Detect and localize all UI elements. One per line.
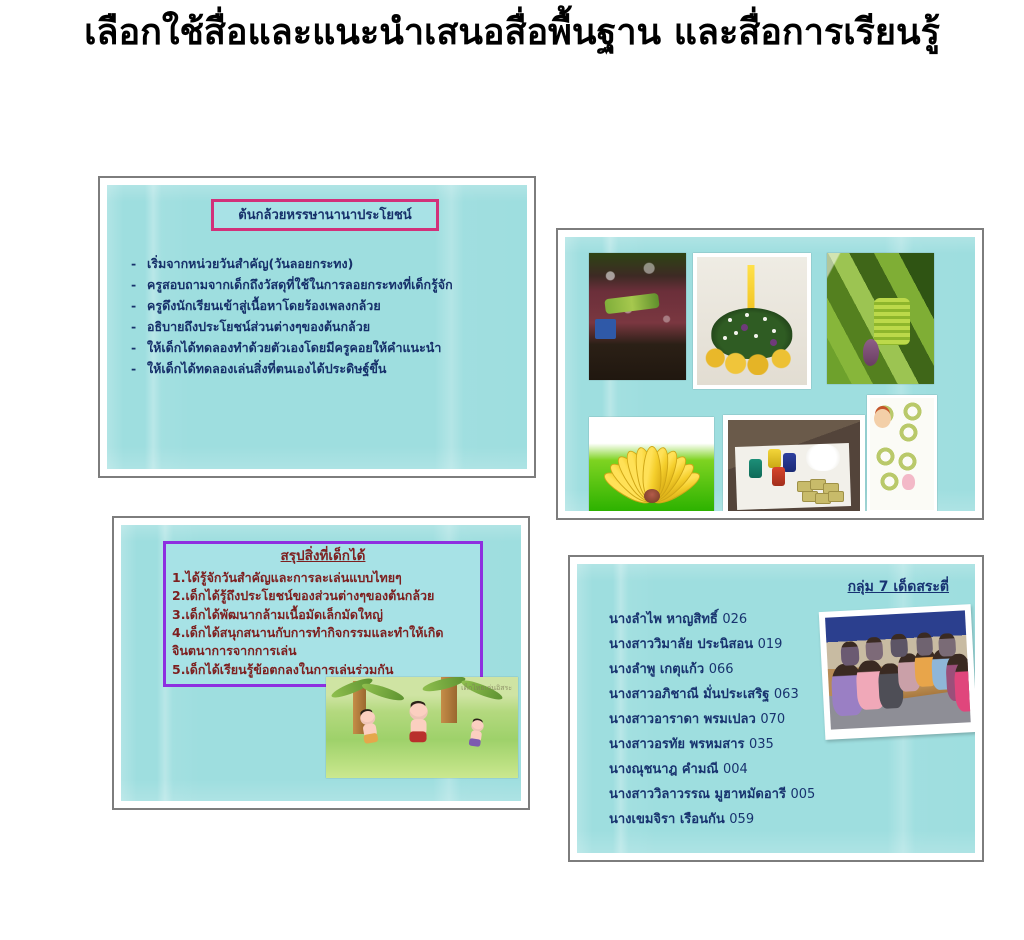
photo-child-artwork (867, 395, 937, 511)
person-figure (938, 633, 956, 656)
list-item: นางสาวอาราดา พรมเปลว 070 (609, 708, 815, 733)
member-id: 004 (723, 762, 748, 777)
member-id: 026 (722, 612, 747, 627)
member-name: นางสาวอาราดา พรมเปลว (609, 712, 756, 727)
lesson-bullet-list: - เริ่มจากหน่วยวันสำคัญ(วันลอยกระทง) - ค… (131, 253, 515, 379)
lesson-bullet-text: ให้เด็กได้ทดลองเล่นสิ่งที่ตนเองได้ประดิษ… (147, 358, 386, 379)
summary-heading: สรุปสิ่งที่เด็กได้ (172, 547, 474, 567)
member-name: นางสาววิมาลัย ประนิสอน (609, 637, 753, 652)
slide-lesson-plan[interactable]: ต้นกล้วยหรรษานานาประโยชน์ - เริ่มจากหน่ว… (98, 176, 536, 478)
member-id: 005 (791, 787, 816, 802)
summary-line: 3.เด็กได้พัฒนากล้ามเนื้อมัดเล็กมัดใหญ่ (172, 606, 474, 624)
slide-summary-canvas: สรุปสิ่งที่เด็กได้ 1.ได้รู้จักวันสำคัญแล… (121, 525, 521, 801)
person-figure (953, 659, 970, 712)
list-item: - เริ่มจากหน่วยวันสำคัญ(วันลอยกระทง) (131, 253, 515, 274)
summary-line: จินตนาการจากการเล่น (172, 642, 474, 660)
photo-dye-and-stalks (723, 415, 865, 511)
page-title: เลือกใช้สื่อและแนะนำเสนอสื่อพื้นฐาน และส… (0, 10, 1024, 55)
member-name: นางณุชนาฎ คำมณี (609, 762, 718, 777)
member-name: นางสาวอรทัย พรหมสาร (609, 737, 744, 752)
lesson-bullet-text: ให้เด็กได้ทดลองทำด้วยตัวเองโดยมีครูคอยให… (147, 337, 441, 358)
list-item: นางเขมจิรา เรือนกัน 059 (609, 808, 815, 833)
summary-line: 4.เด็กได้สนุกสนานกับการทำกิจกรรมและทำให้… (172, 624, 474, 642)
slide-group-members[interactable]: กลุ่ม 7 เด็ดสระตี่ นางลำไพ หาญสิทธิ์ 026… (568, 555, 984, 862)
member-id: 063 (774, 687, 799, 702)
list-item: - อธิบายถึงประโยชน์ส่วนต่างๆของต้นกล้วย (131, 316, 515, 337)
list-item: นางสาววิมาลัย ประนิสอน 019 (609, 633, 815, 658)
group-photo (819, 604, 975, 740)
bullet-dash-icon: - (131, 295, 140, 316)
bullet-dash-icon: - (131, 337, 140, 358)
photo-banana-plantation (827, 253, 934, 384)
list-item: - ครูดึงนักเรียนเข้าสู่เนื้อหาโดยร้องเพล… (131, 295, 515, 316)
list-item: - ให้เด็กได้ทดลองเล่นสิ่งที่ตนเองได้ประด… (131, 358, 515, 379)
bullet-dash-icon: - (131, 253, 140, 274)
member-id: 070 (760, 712, 785, 727)
photo-outdoor-table (589, 253, 686, 380)
slide-group-members-canvas: กลุ่ม 7 เด็ดสระตี่ นางลำไพ หาญสิทธิ์ 026… (577, 564, 975, 853)
list-item: นางสาววิลาวรรณ มูฮาหมัดอารี 005 (609, 783, 815, 808)
summary-line: 2.เด็กได้รู้ถึงประโยชน์ของส่วนต่างๆของต้… (172, 587, 474, 605)
lesson-bullet-text: อธิบายถึงประโยชน์ส่วนต่างๆของต้นกล้วย (147, 316, 370, 337)
summary-line: 1.ได้รู้จักวันสำคัญและการละเล่นแบบไทยๆ (172, 569, 474, 587)
cartoon-children-playing-image: เด็กไทยเล่นอิสระ (326, 677, 518, 778)
member-name: นางเขมจิรา เรือนกัน (609, 812, 725, 827)
lesson-title-box: ต้นกล้วยหรรษานานาประโยชน์ (211, 199, 439, 231)
list-item: - ครูสอบถามจากเด็กถึงวัสดุที่ใช้ในการลอย… (131, 274, 515, 295)
photo-banana-bunch (589, 417, 714, 511)
lesson-bullet-text: ครูดึงนักเรียนเข้าสู่เนื้อหาโดยร้องเพลงก… (147, 295, 381, 316)
banana-stem (644, 489, 660, 503)
list-item: นางณุชนาฎ คำมณี 004 (609, 758, 815, 783)
list-item: นางสาวอรทัย พรหมสาร 035 (609, 733, 815, 758)
member-id: 035 (749, 737, 774, 752)
member-name: นางสาววิลาวรรณ มูฮาหมัดอารี (609, 787, 786, 802)
group-member-list: นางลำไพ หาญสิทธิ์ 026 นางสาววิมาลัย ประน… (609, 608, 815, 833)
list-item: นางลำไพ หาญสิทธิ์ 026 (609, 608, 815, 633)
lesson-bullet-text: เริ่มจากหน่วยวันสำคัญ(วันลอยกระทง) (147, 253, 353, 274)
person-figure (916, 632, 934, 655)
slide-lesson-plan-canvas: ต้นกล้วยหรรษานานาประโยชน์ - เริ่มจากหน่ว… (107, 185, 527, 469)
summary-box: สรุปสิ่งที่เด็กได้ 1.ได้รู้จักวันสำคัญแล… (163, 541, 483, 687)
member-name: นางลำไพ หาญสิทธิ์ (609, 612, 718, 627)
member-id: 059 (729, 812, 754, 827)
lesson-title-text: ต้นกล้วยหรรษานานาประโยชน์ (238, 208, 411, 223)
bullet-dash-icon: - (131, 358, 140, 379)
slide-photo-collage-canvas (565, 237, 975, 511)
member-id: 066 (709, 662, 734, 677)
member-id: 019 (758, 637, 783, 652)
slide-photo-collage[interactable] (556, 228, 984, 520)
member-name: นางสาวอภิชาณี มั่นประเสริฐ (609, 687, 769, 702)
bullet-dash-icon: - (131, 274, 140, 295)
cartoon-watermark: เด็กไทยเล่นอิสระ (461, 683, 512, 694)
group-heading: กลุ่ม 7 เด็ดสระตี่ (577, 576, 949, 598)
list-item: - ให้เด็กได้ทดลองทำด้วยตัวเองโดยมีครูคอย… (131, 337, 515, 358)
lesson-bullet-text: ครูสอบถามจากเด็กถึงวัสดุที่ใช้ในการลอยกร… (147, 274, 453, 295)
list-item: นางสาวอภิชาณี มั่นประเสริฐ 063 (609, 683, 815, 708)
person-figure (840, 641, 859, 667)
member-name: นางลำพู เกตุแก้ว (609, 662, 704, 677)
slide-summary[interactable]: สรุปสิ่งที่เด็กได้ 1.ได้รู้จักวันสำคัญแล… (112, 516, 530, 810)
photo-krathong (693, 253, 811, 389)
person-figure (890, 634, 908, 657)
person-figure (865, 637, 883, 660)
list-item: นางลำพู เกตุแก้ว 066 (609, 658, 815, 683)
bullet-dash-icon: - (131, 316, 140, 337)
